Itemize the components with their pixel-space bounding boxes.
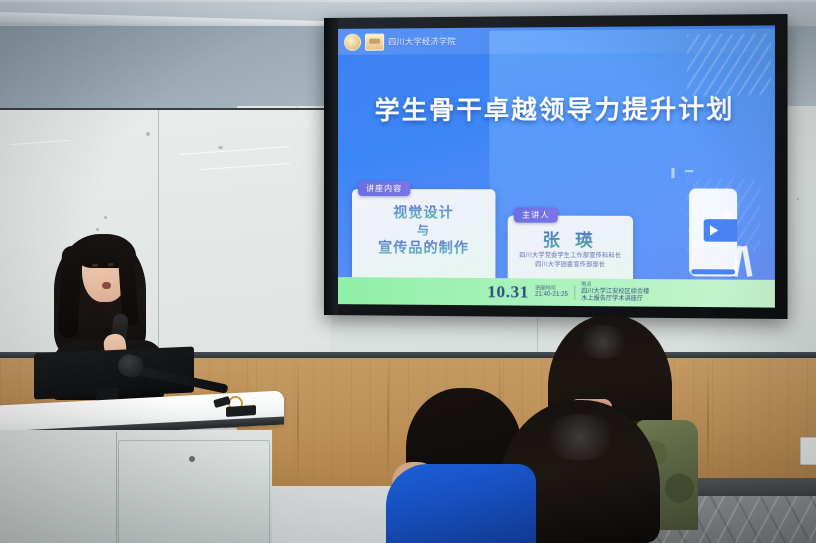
wall-switch-plate [800,437,816,465]
speaker-affiliation-line-2: 四川大学团委宣传部部长 [508,261,633,271]
whiteboard-scuff [180,146,290,155]
event-place-value-2: 水上报告厅学术讲座厅 [581,296,649,304]
figure-base [691,269,735,274]
audience-member-blue-jacket [386,464,536,543]
topic-line-2: 与 [352,222,495,239]
figure-arrow [710,225,718,235]
presenter-eye [108,263,114,266]
event-time-block: 讲座时间 21:40-21:25 [535,285,568,300]
whiteboard-mark [146,132,150,136]
speaker-affiliation: 四川大学党委学生工作部宣传科科长 四川大学团委宣传部部长 [508,252,633,271]
footer-content: 10.31 讲座时间 21:40-21:25 地点 四川大学江安校区综合楼 水上… [487,281,649,305]
speaker-affiliation-line-1: 四川大学党委学生工作部宣传科科长 [508,252,633,262]
whiteboard-scuff [10,140,70,145]
event-place-block: 地点 四川大学江安校区综合楼 水上报告厅学术讲座厅 [581,282,649,305]
screen-bezel-left [324,18,338,315]
whiteboard-scuff [200,163,290,170]
wood-grain [297,358,299,486]
wood-grain [387,358,389,486]
event-time-value: 21:40-21:25 [535,292,568,300]
topic-tag: 讲座内容 [358,181,410,196]
whiteboard-mark [104,216,107,219]
seal-icon [344,34,361,51]
slide-title: 学生骨干卓越领导力提升计划 [336,89,775,127]
emblem-icon [365,34,384,51]
upper-wall-left [0,26,330,116]
podium-cabinet-seam [116,432,117,543]
topic-line-3: 宣传品的制作 [352,238,495,258]
ceiling-grid-line [0,0,816,2]
topic-text: 视觉设计 与 宣传品的制作 [352,203,495,258]
sparkle-icon [671,168,674,178]
whiteboard-mark [218,146,223,149]
cabinet-lock-icon [189,456,195,462]
topic-line-1: 视觉设计 [352,203,495,222]
presentation-slide: 四川大学经济学院 学生骨干卓越领导力提升计划 讲座内容 视觉设计 与 宣传品的制… [336,25,775,307]
slide-decorative-figure-icon [689,188,748,276]
sparkle-icon [685,170,693,172]
hair-highlight [540,414,620,460]
projection-screen: 四川大学经济学院 学生骨干卓越领导力提升计划 讲座内容 视觉设计 与 宣传品的制… [324,14,788,319]
university-logo: 四川大学经济学院 [344,33,456,51]
lecture-hall-screenshot: 四川大学经济学院 学生骨干卓越领导力提升计划 讲座内容 视觉设计 与 宣传品的制… [0,0,816,543]
figure-notch [704,219,737,242]
speaker-name: 张 瑛 [508,226,633,252]
figure-dot [725,213,730,218]
wood-grain [707,358,709,486]
logo-text: 四川大学经济学院 [388,36,456,48]
footer-divider [574,286,575,300]
podium-cabinet-door [118,440,270,543]
presenter-mouth [102,282,111,289]
hair-highlight [576,325,630,359]
event-date: 10.31 [487,282,529,303]
speaker-tag: 主讲人 [514,207,558,222]
presenter-eye [92,264,98,267]
desk-remote [226,405,256,417]
slide-footer-band: 10.31 讲座时间 21:40-21:25 地点 四川大学江安校区综合楼 水上… [336,277,775,308]
whiteboard-mark [797,198,799,200]
